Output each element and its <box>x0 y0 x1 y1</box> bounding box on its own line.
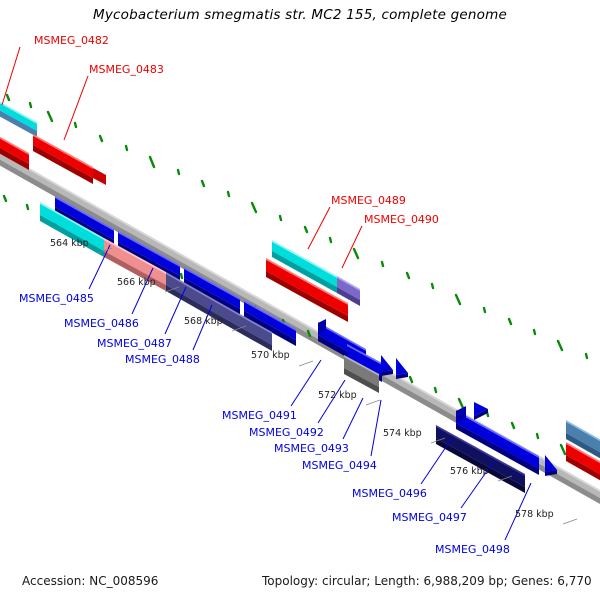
status-bar: Accession: NC_008596 Topology: circular;… <box>0 570 600 600</box>
gene-feature-msmeg-0482[interactable] <box>0 95 37 137</box>
ruler-tick-578: 578 kbp <box>515 509 554 520</box>
ruler-tick-568: 568 kbp <box>184 316 223 327</box>
ruler-tick-570: 570 kbp <box>251 350 290 361</box>
gene-label-msmeg-0493[interactable]: MSMEG_0493 <box>274 442 349 455</box>
gene-label-msmeg-0482[interactable]: MSMEG_0482 <box>34 34 109 47</box>
gene-label-msmeg-0496[interactable]: MSMEG_0496 <box>352 487 427 500</box>
gene-label-msmeg-0497[interactable]: MSMEG_0497 <box>392 511 467 524</box>
topology-text: Topology: circular; Length: 6,988,209 bp… <box>262 574 592 588</box>
gene-label-msmeg-0494[interactable]: MSMEG_0494 <box>302 459 377 472</box>
gene-label-msmeg-0498[interactable]: MSMEG_0498 <box>435 543 510 556</box>
gene-label-msmeg-0492[interactable]: MSMEG_0492 <box>249 426 324 439</box>
accession-text: Accession: NC_008596 <box>22 574 158 588</box>
ruler-tick-566: 566 kbp <box>117 277 156 288</box>
gene-feature-msmeg-0494[interactable] <box>381 355 393 376</box>
gene-label-msmeg-0489[interactable]: MSMEG_0489 <box>331 194 406 207</box>
gene-feature-arrowhead-blue[interactable] <box>474 402 488 420</box>
gene-label-msmeg-0491[interactable]: MSMEG_0491 <box>222 409 297 422</box>
ruler-tick-572: 572 kbp <box>318 390 357 401</box>
ruler-tick-564: 564 kbp <box>50 238 89 249</box>
page-title: Mycobacterium smegmatis str. MC2 155, co… <box>0 7 600 23</box>
ruler-tick-574: 574 kbp <box>383 428 422 439</box>
gene-label-msmeg-0483[interactable]: MSMEG_0483 <box>89 63 164 76</box>
genome-map-canvas[interactable]: Mycobacterium smegmatis str. MC2 155, co… <box>0 0 600 600</box>
gene-label-msmeg-0487[interactable]: MSMEG_0487 <box>97 337 172 350</box>
gene-label-msmeg-0488[interactable]: MSMEG_0488 <box>125 353 200 366</box>
ruler-tick-576: 576 kbp <box>450 466 489 477</box>
gene-label-msmeg-0485[interactable]: MSMEG_0485 <box>19 292 94 305</box>
gene-label-msmeg-0490[interactable]: MSMEG_0490 <box>364 213 439 226</box>
gene-label-msmeg-0486[interactable]: MSMEG_0486 <box>64 317 139 330</box>
gene-feature-blue-g[interactable] <box>396 358 408 379</box>
